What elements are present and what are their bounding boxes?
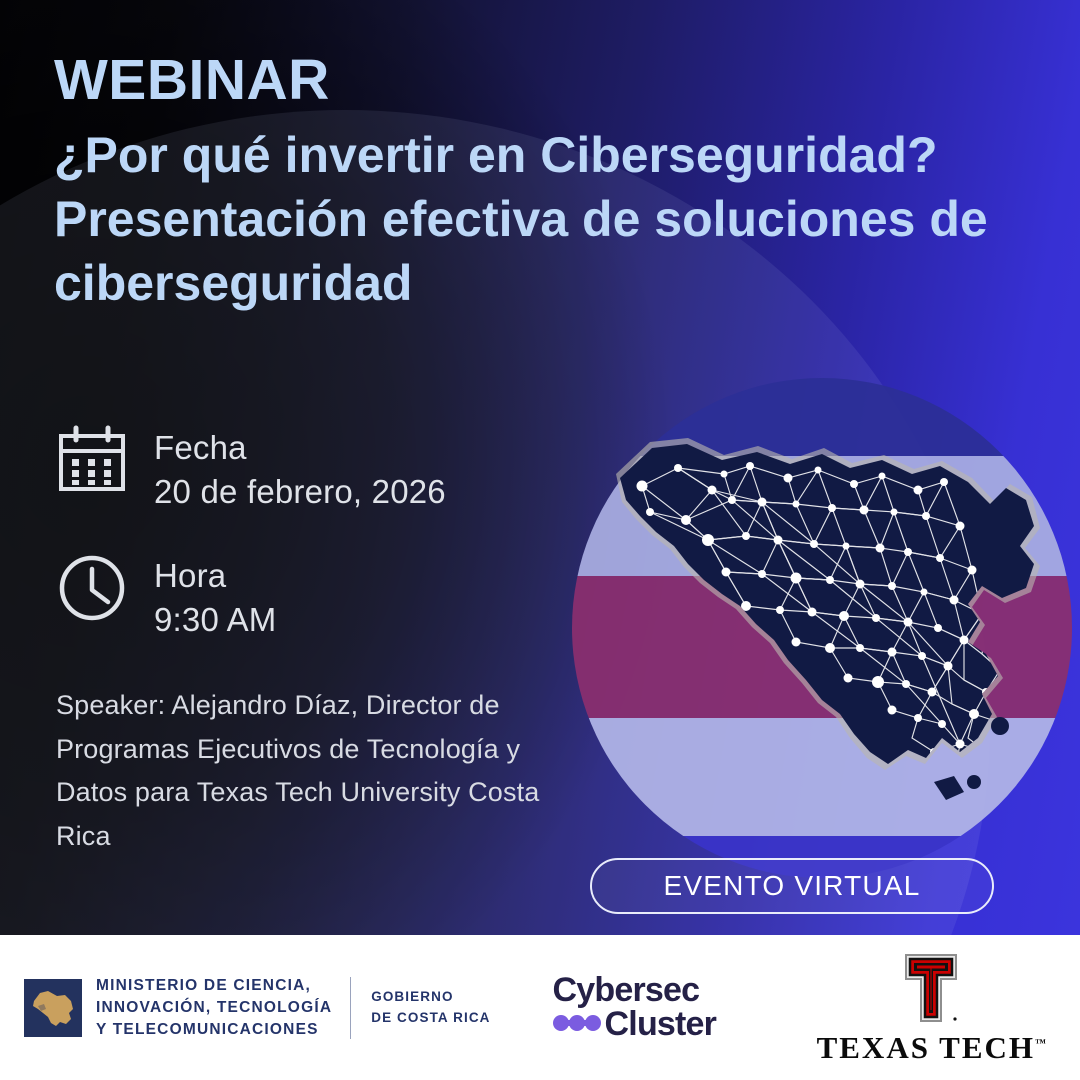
detail-text-time: Hora 9:30 AM (154, 552, 276, 642)
detail-text-date: Fecha 20 de febrero, 2026 (154, 424, 446, 514)
texas-tech-wordmark: TEXAS TECH™ (817, 1030, 1046, 1066)
detail-row-date: Fecha 20 de febrero, 2026 (56, 424, 576, 514)
ministry-name: MINISTERIO DE CIENCIA, INNOVACIÓN, TECNO… (96, 975, 332, 1041)
page-title: ¿Por qué invertir en Ciberseguridad? Pre… (54, 123, 1044, 315)
texas-tech-text: TEXAS TECH (817, 1030, 1035, 1065)
double-t-icon (892, 949, 970, 1027)
trademark-symbol: ™ (1035, 1038, 1046, 1050)
clock-icon (56, 552, 128, 624)
texas-tech-logo: TEXAS TECH™ (817, 949, 1046, 1066)
detail-value-time: 9:30 AM (154, 598, 276, 642)
status-badge: EVENTO VIRTUAL (590, 858, 994, 914)
footer-logo-bar: MINISTERIO DE CIENCIA, INNOVACIÓN, TECNO… (0, 935, 1080, 1080)
headline-block: WEBINAR ¿Por qué invertir en Ciberseguri… (54, 52, 1044, 315)
status-badge-label: EVENTO VIRTUAL (664, 870, 921, 902)
cluster-word: Cluster (605, 1009, 717, 1041)
kicker-label: WEBINAR (54, 52, 1044, 109)
detail-row-time: Hora 9:30 AM (56, 552, 576, 642)
connected-nodes-icon (553, 1011, 603, 1038)
speaker-info: Speaker: Alejandro Díaz, Director de Pro… (56, 684, 596, 859)
detail-value-date: 20 de febrero, 2026 (154, 470, 446, 514)
costa-rica-map-emblem-icon (24, 979, 82, 1037)
footer-divider (350, 977, 351, 1039)
detail-label-date: Fecha (154, 426, 446, 470)
webinar-poster: WEBINAR ¿Por qué invertir en Ciberseguri… (0, 0, 1080, 1080)
ministry-logo: MINISTERIO DE CIENCIA, INNOVACIÓN, TECNO… (24, 975, 332, 1041)
detail-label-time: Hora (154, 554, 276, 598)
government-label: GOBIERNO DE COSTA RICA (371, 987, 490, 1028)
map-silhouette (582, 408, 1062, 848)
cybersec-row-cluster: Cluster (553, 1009, 717, 1041)
cybersec-cluster-logo: Cybersec Cluster (553, 975, 717, 1041)
calendar-icon (56, 424, 128, 496)
event-details: Fecha 20 de febrero, 2026 Hora 9:30 AM (56, 424, 576, 680)
costa-rica-network-map (572, 378, 1080, 848)
cybersec-word: Cybersec (553, 975, 717, 1007)
